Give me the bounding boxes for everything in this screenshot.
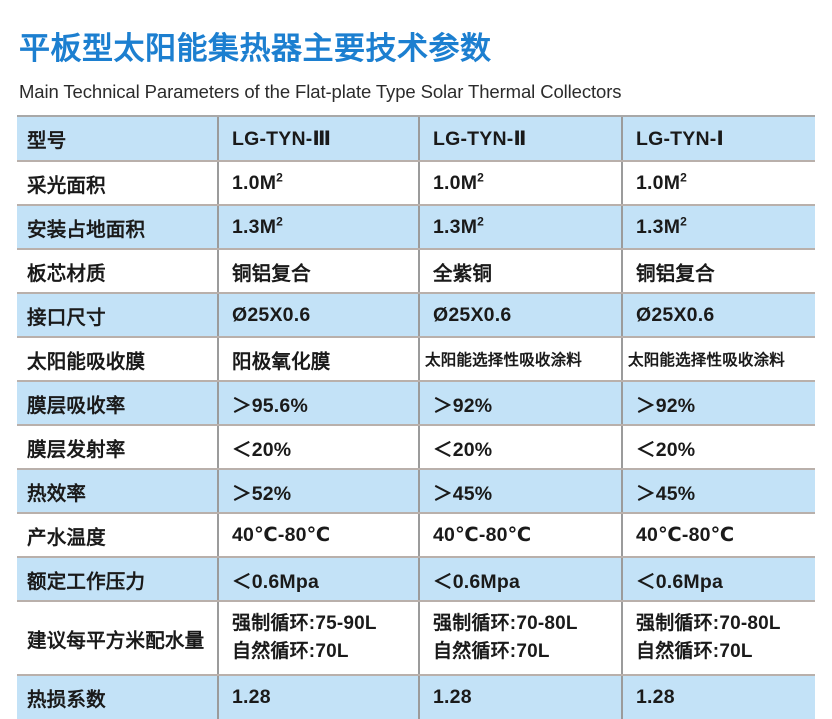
page-title-chinese: 平板型太阳能集热器主要技术参数 [19, 30, 492, 67]
table-row: 板芯材质铜铝复合全紫铜铜铝复合 [17, 249, 815, 293]
row-value-col2: Ø25X0.6 [419, 293, 622, 337]
row-value-col1: Ø25X0.6 [218, 293, 419, 337]
table-row: 产水温度40℃-80℃40℃-80℃40℃-80℃ [17, 513, 815, 557]
table-row: 型号LG-TYN-ⅢLG-TYN-ⅡLG-TYN-Ⅰ [17, 117, 815, 161]
table-row: 太阳能吸收膜阳极氧化膜太阳能选择性吸收涂料太阳能选择性吸收涂料 [17, 337, 815, 381]
row-label: 型号 [17, 117, 218, 161]
row-value-col2: ＞92% [419, 381, 622, 425]
row-label: 热损系数 [17, 675, 218, 719]
value-line-1: 强制循环:70-80L [636, 610, 815, 638]
spec-sheet-page: 平板型太阳能集热器主要技术参数 Main Technical Parameter… [0, 0, 832, 652]
row-value-col1: 铜铝复合 [218, 249, 419, 293]
row-label: 产水温度 [17, 513, 218, 557]
row-value-col3: ＜20% [622, 425, 815, 469]
row-label: 接口尺寸 [17, 293, 218, 337]
row-value-col2: 1.0M2 [419, 161, 622, 205]
row-value-col2: 全紫铜 [419, 249, 622, 293]
row-value-col3: 1.28 [622, 675, 815, 719]
unit-exponent: 2 [477, 214, 484, 228]
row-value-col1: ＜0.6Mpa [218, 557, 419, 601]
table-row: 额定工作压力＜0.6Mpa＜0.6Mpa＜0.6Mpa [17, 557, 815, 601]
unit-exponent: 2 [276, 214, 283, 228]
row-value-col2: ＞45% [419, 469, 622, 513]
row-label: 太阳能吸收膜 [17, 337, 218, 381]
row-label: 建议每平方米配水量 [17, 601, 218, 675]
row-label: 热效率 [17, 469, 218, 513]
row-label: 采光面积 [17, 161, 218, 205]
row-label: 安装占地面积 [17, 205, 218, 249]
unit-exponent: 2 [477, 170, 484, 184]
page-subtitle-english: Main Technical Parameters of the Flat-pl… [19, 80, 621, 103]
table-body: 型号LG-TYN-ⅢLG-TYN-ⅡLG-TYN-Ⅰ采光面积1.0M21.0M2… [17, 117, 815, 719]
row-value-col1: 阳极氧化膜 [218, 337, 419, 381]
row-value-col3: ＞45% [622, 469, 815, 513]
row-label: 板芯材质 [17, 249, 218, 293]
row-value-col1: ＜20% [218, 425, 419, 469]
row-value-col3: 太阳能选择性吸收涂料 [622, 337, 815, 381]
row-value-col3: 1.0M2 [622, 161, 815, 205]
row-value-col2: 太阳能选择性吸收涂料 [419, 337, 622, 381]
row-value-col3: ＜0.6Mpa [622, 557, 815, 601]
row-label: 膜层发射率 [17, 425, 218, 469]
table-row: 热效率＞52%＞45%＞45% [17, 469, 815, 513]
row-label: 额定工作压力 [17, 557, 218, 601]
specifications-table: 型号LG-TYN-ⅢLG-TYN-ⅡLG-TYN-Ⅰ采光面积1.0M21.0M2… [17, 117, 815, 719]
row-value-col1: 40℃-80℃ [218, 513, 419, 557]
row-value-col1: 1.3M2 [218, 205, 419, 249]
unit-exponent: 2 [276, 170, 283, 184]
table-row: 热损系数1.281.281.28 [17, 675, 815, 719]
row-value-col2: 强制循环:70-80L自然循环:70L [419, 601, 622, 675]
unit-exponent: 2 [680, 170, 687, 184]
row-value-col3: 铜铝复合 [622, 249, 815, 293]
unit-exponent: 2 [680, 214, 687, 228]
row-value-col1: LG-TYN-Ⅲ [218, 117, 419, 161]
row-value-col3: 强制循环:70-80L自然循环:70L [622, 601, 815, 675]
row-value-col3: 1.3M2 [622, 205, 815, 249]
row-value-col2: ＜0.6Mpa [419, 557, 622, 601]
table-row: 膜层吸收率＞95.6%＞92%＞92% [17, 381, 815, 425]
value-line-1: 强制循环:70-80L [433, 610, 621, 638]
row-value-col1: 强制循环:75-90L自然循环:70L [218, 601, 419, 675]
value-line-1: 强制循环:75-90L [232, 610, 418, 638]
row-value-col2: 1.28 [419, 675, 622, 719]
row-value-col3: ＞92% [622, 381, 815, 425]
row-value-col1: 1.28 [218, 675, 419, 719]
table-row: 膜层发射率＜20%＜20%＜20% [17, 425, 815, 469]
row-value-col2: 40℃-80℃ [419, 513, 622, 557]
row-value-col1: ＞52% [218, 469, 419, 513]
row-value-col1: ＞95.6% [218, 381, 419, 425]
row-value-col2: 1.3M2 [419, 205, 622, 249]
row-value-col2: LG-TYN-Ⅱ [419, 117, 622, 161]
row-value-col3: LG-TYN-Ⅰ [622, 117, 815, 161]
row-value-col3: Ø25X0.6 [622, 293, 815, 337]
row-value-col3: 40℃-80℃ [622, 513, 815, 557]
row-label: 膜层吸收率 [17, 381, 218, 425]
table-row: 建议每平方米配水量强制循环:75-90L自然循环:70L强制循环:70-80L自… [17, 601, 815, 675]
row-value-col1: 1.0M2 [218, 161, 419, 205]
row-value-col2: ＜20% [419, 425, 622, 469]
table-row: 采光面积1.0M21.0M21.0M2 [17, 161, 815, 205]
table-row: 安装占地面积1.3M21.3M21.3M2 [17, 205, 815, 249]
table-row: 接口尺寸Ø25X0.6Ø25X0.6Ø25X0.6 [17, 293, 815, 337]
